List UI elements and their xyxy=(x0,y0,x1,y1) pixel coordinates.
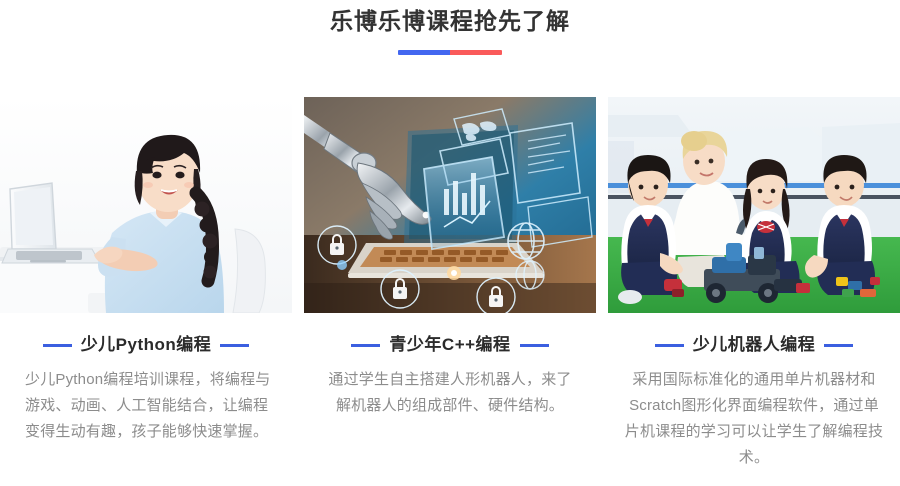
course-preview-section: 乐博乐博课程抢先了解 xyxy=(0,0,900,482)
heading-dash-left-icon xyxy=(351,344,380,347)
title-divider xyxy=(398,50,502,55)
section-header: 乐博乐博课程抢先了解 xyxy=(0,0,900,55)
card-heading-robotics: 少儿机器人编程 xyxy=(608,334,900,356)
course-card-cpp[interactable]: 青少年C++编程 通过学生自主搭建人形机器人，来了解机器人的组成部件、硬件结构。 xyxy=(304,97,596,486)
card-heading-text: 少儿机器人编程 xyxy=(693,334,816,356)
heading-dash-right-icon xyxy=(520,344,549,347)
course-card-list: 少儿Python编程 少儿Python编程培训课程，将编程与游戏、动画、人工智能… xyxy=(0,97,900,486)
card-heading-text: 少儿Python编程 xyxy=(81,334,212,356)
page-title: 乐博乐博课程抢先了解 xyxy=(0,6,900,36)
heading-dash-right-icon xyxy=(824,344,853,347)
heading-dash-right-icon xyxy=(220,344,249,347)
card-body-text: 通过学生自主搭建人形机器人，来了解机器人的组成部件、硬件结构。 xyxy=(326,367,574,419)
teacher-kids-robot-photo[interactable] xyxy=(608,97,900,313)
course-card-python[interactable]: 少儿Python编程 少儿Python编程培训课程，将编程与游戏、动画、人工智能… xyxy=(0,97,292,486)
girl-with-laptop-photo[interactable] xyxy=(0,97,292,313)
card-heading-python: 少儿Python编程 xyxy=(0,334,292,356)
heading-dash-left-icon xyxy=(43,344,72,347)
divider-red-segment xyxy=(450,50,502,55)
course-card-robotics[interactable]: 少儿机器人编程 采用国际标准化的通用单片机器材和Scratch图形化界面编程软件… xyxy=(608,97,900,486)
card-heading-text: 青少年C++编程 xyxy=(389,334,510,356)
robot-hand-laptop-photo[interactable] xyxy=(304,97,596,313)
card-body-text: 采用国际标准化的通用单片机器材和Scratch图形化界面编程软件，通过单片机课程… xyxy=(623,367,885,471)
card-body-text: 少儿Python编程培训课程，将编程与游戏、动画、人工智能结合，让编程变得生动有… xyxy=(25,367,271,445)
card-heading-cpp: 青少年C++编程 xyxy=(304,334,596,356)
heading-dash-left-icon xyxy=(655,344,684,347)
divider-blue-segment xyxy=(398,50,450,55)
